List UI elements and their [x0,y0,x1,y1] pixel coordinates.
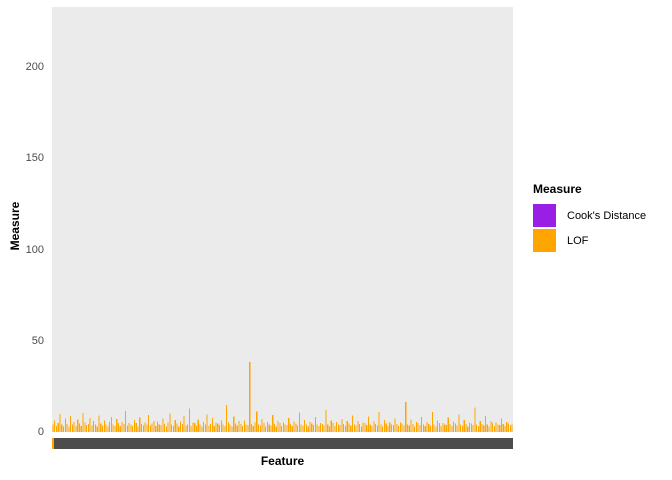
legend-label-cooks-distance: Cook's Distance [567,210,646,222]
legend-label-lof: LOF [567,235,588,247]
x-axis-band-start-marker [52,438,54,449]
legend-item-cooks-distance[interactable]: Cook's Distance [533,203,668,228]
legend-key-lof [533,229,556,252]
legend-item-lof[interactable]: LOF [533,228,668,253]
y-tick-label-50: 50 [32,335,44,347]
y-tick-label-100: 100 [26,244,44,256]
legend-key-cooks-distance [533,204,556,227]
chart-root: 200 150 100 50 0 Measure Feature Measure… [0,0,672,480]
y-tick-label-0: 0 [38,426,44,438]
y-tick-label-200: 200 [26,61,44,73]
y-tick-label-150: 150 [26,152,44,164]
x-axis-tick-label-band [52,438,513,449]
legend: Measure Cook's Distance LOF [533,182,668,253]
bar-series-lof [52,7,513,432]
x-axis-title: Feature [52,454,513,468]
plot-panel [52,7,513,432]
legend-title: Measure [533,182,668,196]
y-axis-title: Measure [8,178,22,274]
